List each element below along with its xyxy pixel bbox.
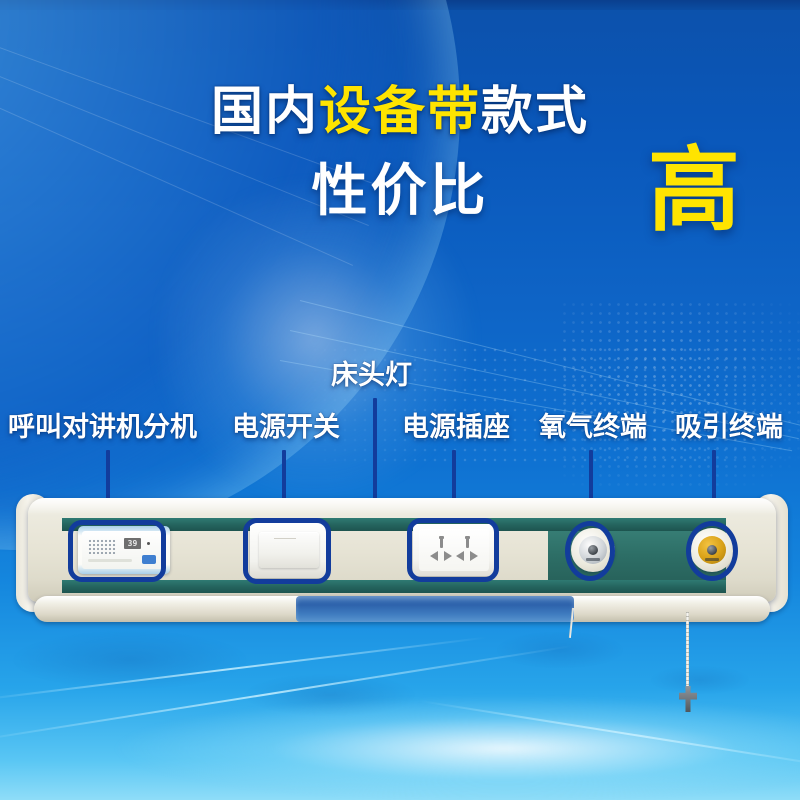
- panel-rail-blue-section: [296, 596, 574, 622]
- panel-stripe-bottom: [62, 580, 726, 593]
- callout-label-suction-terminal: 吸引终端: [675, 414, 783, 441]
- promo-banner: 国内设备带款式 性价比 高 呼叫对讲机分机 电源开关 床头灯 电源插座 氧气终端…: [0, 0, 800, 800]
- highlight-circle-oxygen: [565, 521, 615, 581]
- panel-highlight: [28, 498, 776, 514]
- highlight-box-power-socket: [407, 518, 499, 582]
- highlight-box-power-switch: [243, 518, 331, 584]
- horizon-glow: [0, 690, 800, 800]
- accent-word: 高: [648, 145, 740, 237]
- headline: 国内设备带款式: [0, 86, 800, 138]
- headline-highlight: 设备带: [319, 83, 481, 141]
- callout-label-power-switch: 电源开关: [232, 414, 340, 441]
- suction-hose-texture: [686, 612, 689, 694]
- callout-label-bed-lamp: 床头灯: [331, 362, 412, 389]
- highlight-circle-suction: [686, 521, 738, 581]
- headline-part-1: 国内: [211, 83, 319, 141]
- callout-label-intercom: 呼叫对讲机分机: [8, 414, 197, 441]
- callout-label-power-socket: 电源插座: [402, 414, 510, 441]
- highlight-box-intercom: [68, 520, 166, 582]
- callout-label-oxygen-terminal: 氧气终端: [539, 414, 647, 441]
- headline-part-3: 款式: [481, 83, 589, 141]
